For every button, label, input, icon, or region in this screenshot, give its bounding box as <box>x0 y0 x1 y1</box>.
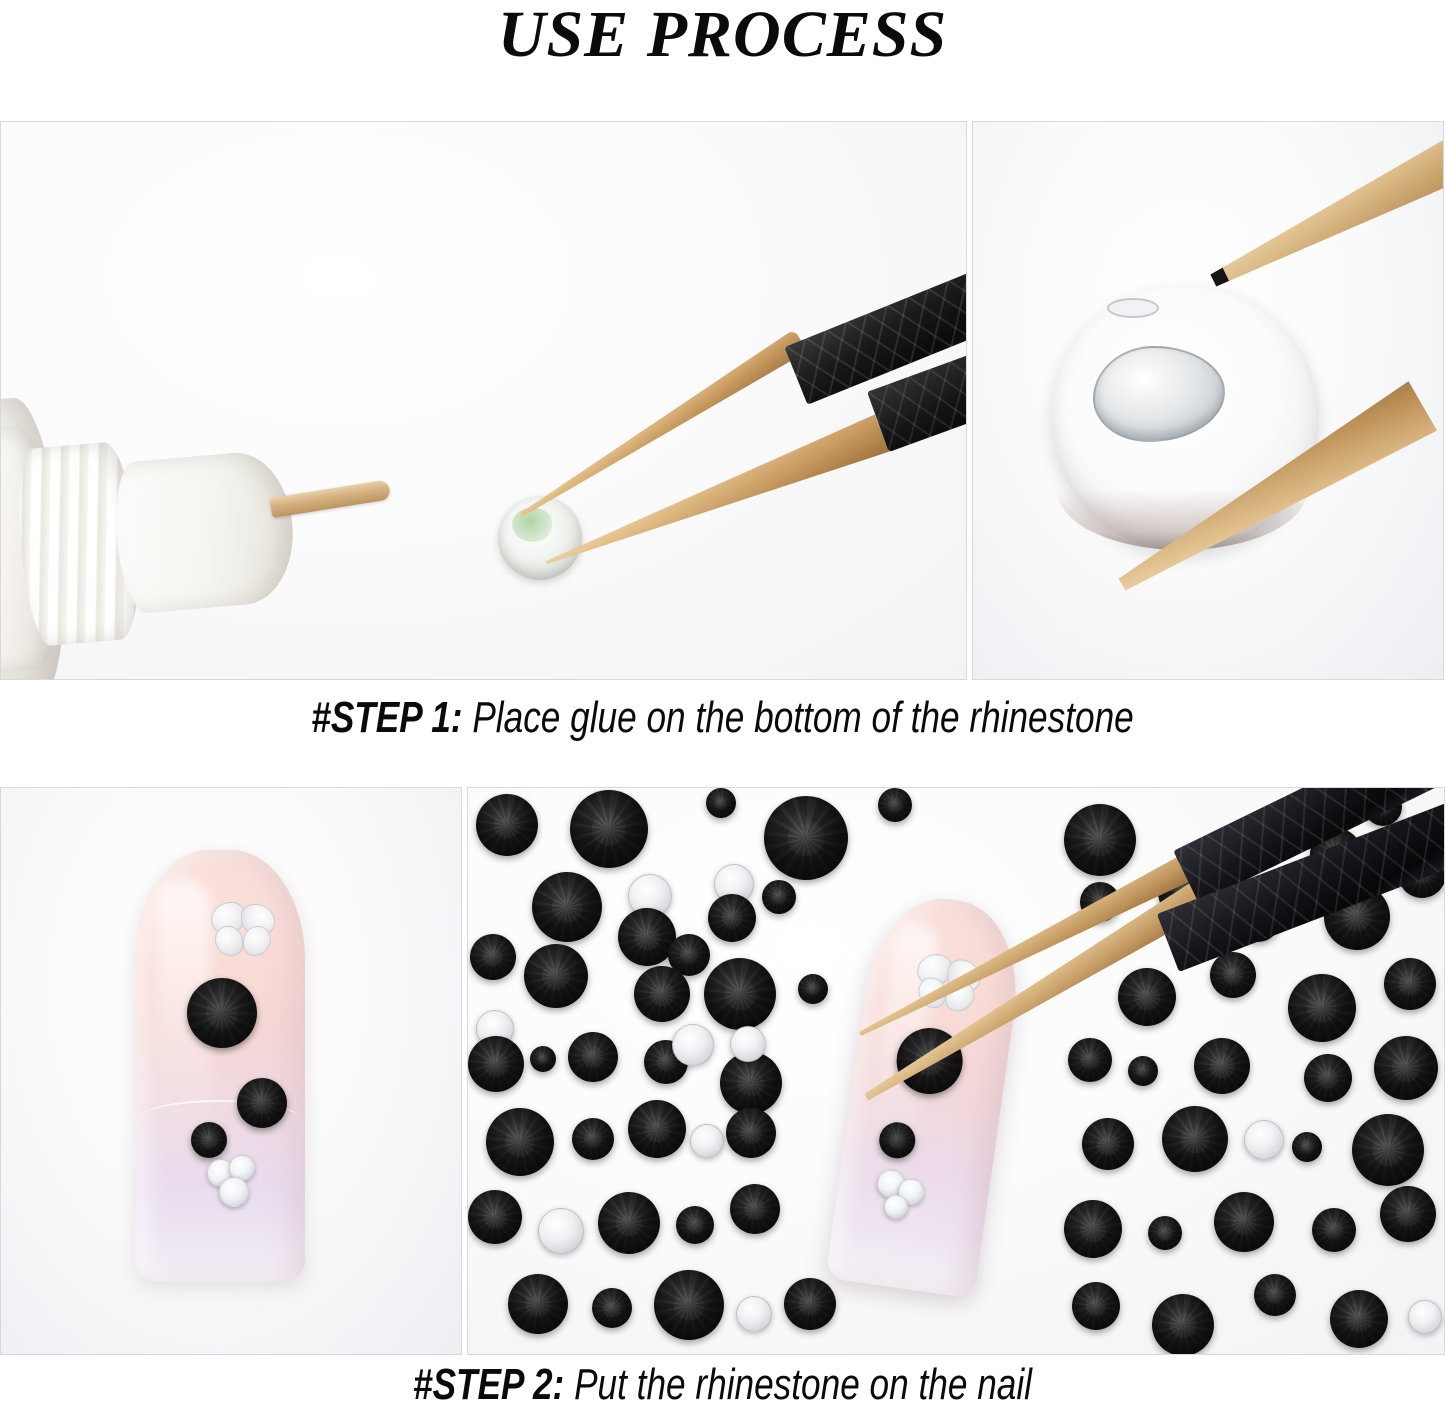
black-rhinestone <box>726 1108 776 1158</box>
step-1-label: #STEP 1: <box>311 693 472 742</box>
glue-bottle <box>0 371 353 680</box>
silver-back-rhinestone <box>672 1024 714 1066</box>
black-rhinestone <box>524 944 588 1008</box>
black-rhinestone <box>704 958 776 1030</box>
black-rhinestone <box>654 1270 724 1340</box>
black-rhinestone <box>764 796 848 880</box>
black-rhinestone <box>470 934 516 980</box>
black-rhinestone <box>570 790 648 868</box>
black-rhinestone <box>1352 1114 1424 1186</box>
black-rhinestone <box>1082 1118 1134 1170</box>
step-2-label: #STEP 2: <box>413 1360 574 1409</box>
black-rhinestone <box>1312 1208 1356 1252</box>
black-rhinestone <box>508 1274 568 1334</box>
clear-crystal <box>219 1177 249 1207</box>
black-rhinestone <box>708 894 756 942</box>
black-rhinestone-small <box>191 1122 227 1158</box>
black-rhinestone <box>1152 1294 1214 1355</box>
butterfly-charm <box>211 902 277 960</box>
clear-crystal-cluster <box>207 1155 265 1207</box>
black-rhinestone <box>784 1278 836 1330</box>
black-rhinestone-medium <box>237 1078 287 1128</box>
black-rhinestone <box>532 872 602 942</box>
silver-back-rhinestone <box>690 1124 724 1158</box>
butterfly-wing <box>215 926 243 956</box>
silver-back-rhinestone <box>730 1026 766 1062</box>
bottle-nozzle-body <box>110 448 299 615</box>
use-process-infographic: USE PROCESS <box>0 0 1445 1412</box>
applying-rhinestone-photo <box>467 787 1445 1355</box>
black-rhinestone <box>1304 1054 1352 1102</box>
black-rhinestone <box>1288 974 1356 1042</box>
step-1-photo-row <box>0 121 1445 680</box>
silver-back-rhinestone <box>1408 1300 1442 1334</box>
black-rhinestone <box>1068 1038 1112 1082</box>
black-rhinestone <box>628 1100 686 1158</box>
black-rhinestone <box>486 1108 554 1176</box>
black-rhinestone <box>572 1118 614 1160</box>
black-rhinestone <box>1072 1282 1120 1330</box>
step-2-caption: #STEP 2: Put the rhinestone on the nail <box>145 1360 1301 1410</box>
black-rhinestone <box>1292 1132 1322 1162</box>
glue-on-rhinestone-closeup-photo <box>972 121 1444 680</box>
glue-smear <box>1107 298 1159 318</box>
rhinestone-flat-back <box>1051 284 1319 552</box>
black-rhinestone <box>1148 1216 1182 1250</box>
black-rhinestone <box>468 1036 524 1092</box>
black-rhinestone <box>1330 1290 1388 1348</box>
black-rhinestone <box>568 1032 618 1082</box>
black-rhinestone <box>1194 1038 1250 1094</box>
rhinestone-on-nozzle <box>498 496 582 580</box>
black-rhinestone <box>1118 968 1176 1026</box>
black-rhinestone <box>1064 1200 1122 1258</box>
step-2-photo-row <box>0 787 1445 1355</box>
silver-back-rhinestone <box>736 1296 772 1332</box>
black-rhinestone <box>1162 1106 1228 1172</box>
black-rhinestone <box>530 1046 556 1072</box>
butterfly-wing <box>243 926 271 956</box>
black-rhinestone <box>730 1184 780 1234</box>
black-rhinestone <box>634 966 690 1022</box>
black-rhinestone <box>706 788 736 818</box>
black-rhinestone <box>1384 958 1436 1010</box>
page-title: USE PROCESS <box>0 0 1445 72</box>
black-rhinestone <box>1254 1274 1296 1316</box>
black-rhinestone <box>1374 1036 1438 1100</box>
black-rhinestone-large <box>187 978 257 1048</box>
black-rhinestone <box>676 1206 714 1244</box>
step-2-text: Put the rhinestone on the nail <box>574 1360 1032 1409</box>
black-rhinestone <box>878 788 912 822</box>
step-1-caption: #STEP 1: Place glue on the bottom of the… <box>145 693 1301 743</box>
step-1-text: Place glue on the bottom of the rhinesto… <box>472 693 1133 742</box>
black-rhinestone <box>1064 804 1136 876</box>
silver-back-rhinestone <box>538 1208 584 1254</box>
glue-blob <box>1093 346 1225 442</box>
black-rhinestone <box>798 974 828 1004</box>
black-rhinestone <box>468 1190 522 1244</box>
black-rhinestone <box>1128 1056 1158 1086</box>
black-rhinestone <box>762 880 796 914</box>
black-rhinestone <box>1210 952 1256 998</box>
black-rhinestone <box>476 794 538 856</box>
glue-bottle-and-tweezers-photo <box>0 121 967 680</box>
black-rhinestone <box>1214 1192 1274 1252</box>
silver-back-rhinestone <box>1244 1120 1284 1160</box>
black-rhinestone <box>592 1288 632 1328</box>
decorated-nail <box>135 850 305 1282</box>
black-rhinestone <box>598 1192 660 1254</box>
black-rhinestone <box>1380 1186 1436 1242</box>
finished-nail-photo <box>0 787 462 1355</box>
